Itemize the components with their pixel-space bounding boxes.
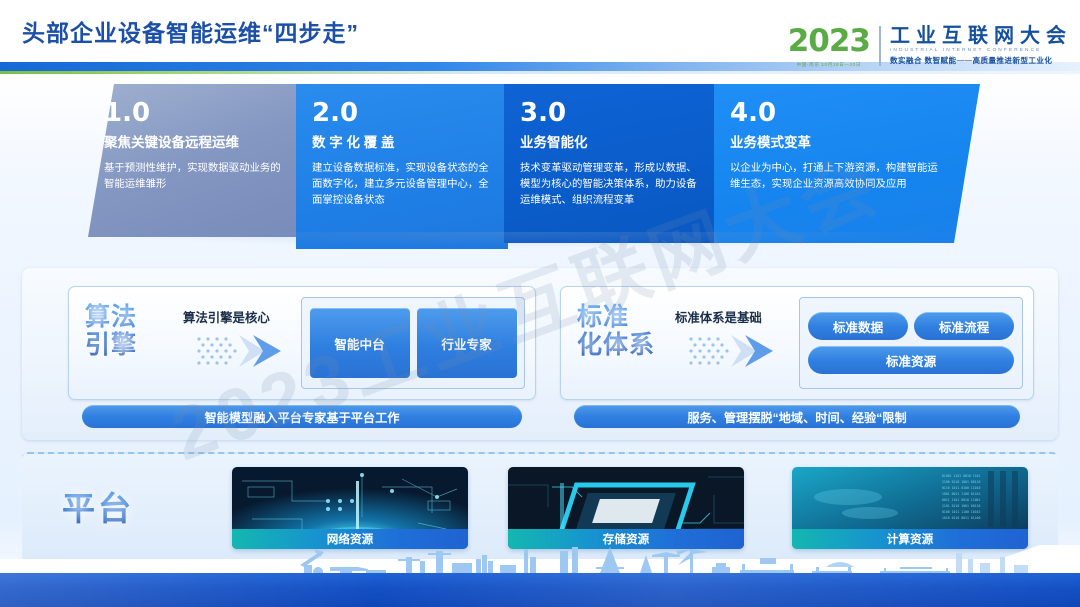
svg-text:1010 0110 0011 01100: 1010 0110 0011 01100 [942,516,980,520]
svg-text:01001 1101 0010 1101: 01001 1101 0010 1101 [942,474,980,478]
heading-line-1: 标准 [577,303,655,331]
chip-standard-data[interactable]: 标准数据 [808,312,908,340]
standard-chip-list: 标准数据 标准流程 标准资源 [799,297,1023,389]
chip-intelligent-midplatform[interactable]: 智能中台 [310,308,410,378]
standard-system-panel: 标准 化体系 标准体系是基础 标准数据 [560,286,1034,400]
logo-divider [879,26,881,66]
algorithm-chip-list: 智能中台 行业专家 [301,297,525,389]
svg-text:0011 1101 0010 11001: 0011 1101 0010 11001 [942,498,980,502]
step-title: 业务模式变革 [730,135,966,151]
step-title: 数 字 化 覆 盖 [312,135,494,151]
standard-tagline: 标准体系是基础 [675,308,762,326]
platform-card-compute[interactable]: 01001 1101 0010 1101 1100 0110 1001 0011… [792,467,1028,549]
footer-blue-bar [0,573,1080,607]
platform-card-network[interactable]: 网络资源 [232,467,468,549]
chip-industry-expert[interactable]: 行业专家 [417,308,517,378]
step-number: 4.0 [730,100,966,126]
heading-line-2: 化体系 [577,331,655,359]
step-bar-shadow [88,232,980,248]
algorithm-footer-bar: 智能模型融入平台专家基于平台工作 [82,405,522,428]
chip-standard-resource[interactable]: 标准资源 [808,346,1014,374]
city-silhouette [0,545,1080,573]
dotted-arrow-icon [195,331,287,371]
logo-chinese-subtitle: 数实融合 数智赋能——高质量推进新型工业化 [890,55,1072,66]
svg-text:0100 1011 1100 10101: 0100 1011 1100 10101 [942,510,980,514]
step-number: 1.0 [104,100,288,126]
logo-main-title: 工业互联网大会 [890,26,1072,47]
algorithm-engine-panel: 算法 引擎 算法引擎是核心 智能中台 [68,286,536,400]
capability-band: 算法 引擎 算法引擎是核心 智能中台 [22,268,1058,440]
heading-line-1: 算法 [85,303,137,331]
svg-text:0110 1011 0100 11010: 0110 1011 0100 11010 [942,486,980,490]
header-rule-green [0,71,1080,74]
chip-standard-process[interactable]: 标准流程 [914,312,1014,340]
step-description: 以企业为中心，打通上下游资源，构建智能运维生态，实现企业资源高效协同及应用 [730,161,944,193]
platform-label: 平台 [62,482,134,530]
standard-system-heading: 标准 化体系 [577,303,655,359]
slide-canvas: 头部企业设备智能运维“四步走” 2023 中国·南京 10月18日—20日 工业… [0,0,1080,607]
step-description: 基于预测性维护，实现数据驱动业务的智能运维雏形 [104,161,288,193]
logo-year-subtitle: 中国·南京 10月18日—20日 [788,62,870,68]
algorithm-engine-heading: 算法 引擎 [85,303,137,359]
step-title: 聚焦关键设备远程运维 [104,135,288,151]
step-description: 技术变革驱动管理变革，形成以数据、模型为核心的智能决策体系，助力设备运维模式、组… [520,161,704,209]
step-description: 建立设备数据标准，实现设备状态的全面数字化，建立多元设备管理中心，全面掌控设备状… [312,161,494,209]
svg-text:1101 0110 1001 00110: 1101 0110 1001 00110 [942,504,980,508]
heading-line-2: 引擎 [85,331,137,359]
algorithm-tagline: 算法引擎是核心 [183,308,270,326]
conference-logo: 2023 中国·南京 10月18日—20日 工业互联网大会 INDUSTRIAL… [788,26,1072,68]
step-number: 3.0 [520,100,704,126]
step-title: 业务智能化 [520,135,704,151]
logo-english-title: INDUSTRIAL INTERNET CONFERENCE [890,48,1072,53]
logo-year: 2023 [788,26,870,57]
standard-footer-bar: 服务、管理摆脱“地域、时间、经验“限制 [574,405,1020,428]
svg-text:1100 0110 1001 00110: 1100 0110 1001 00110 [942,480,980,484]
dotted-arrow-icon [687,331,779,371]
step-number: 2.0 [312,100,494,126]
page-title: 头部企业设备智能运维“四步走” [22,14,359,48]
svg-text:1001 0011 1100 01101: 1001 0011 1100 01101 [942,492,980,496]
platform-card-storage[interactable]: 存储资源 [508,467,744,549]
